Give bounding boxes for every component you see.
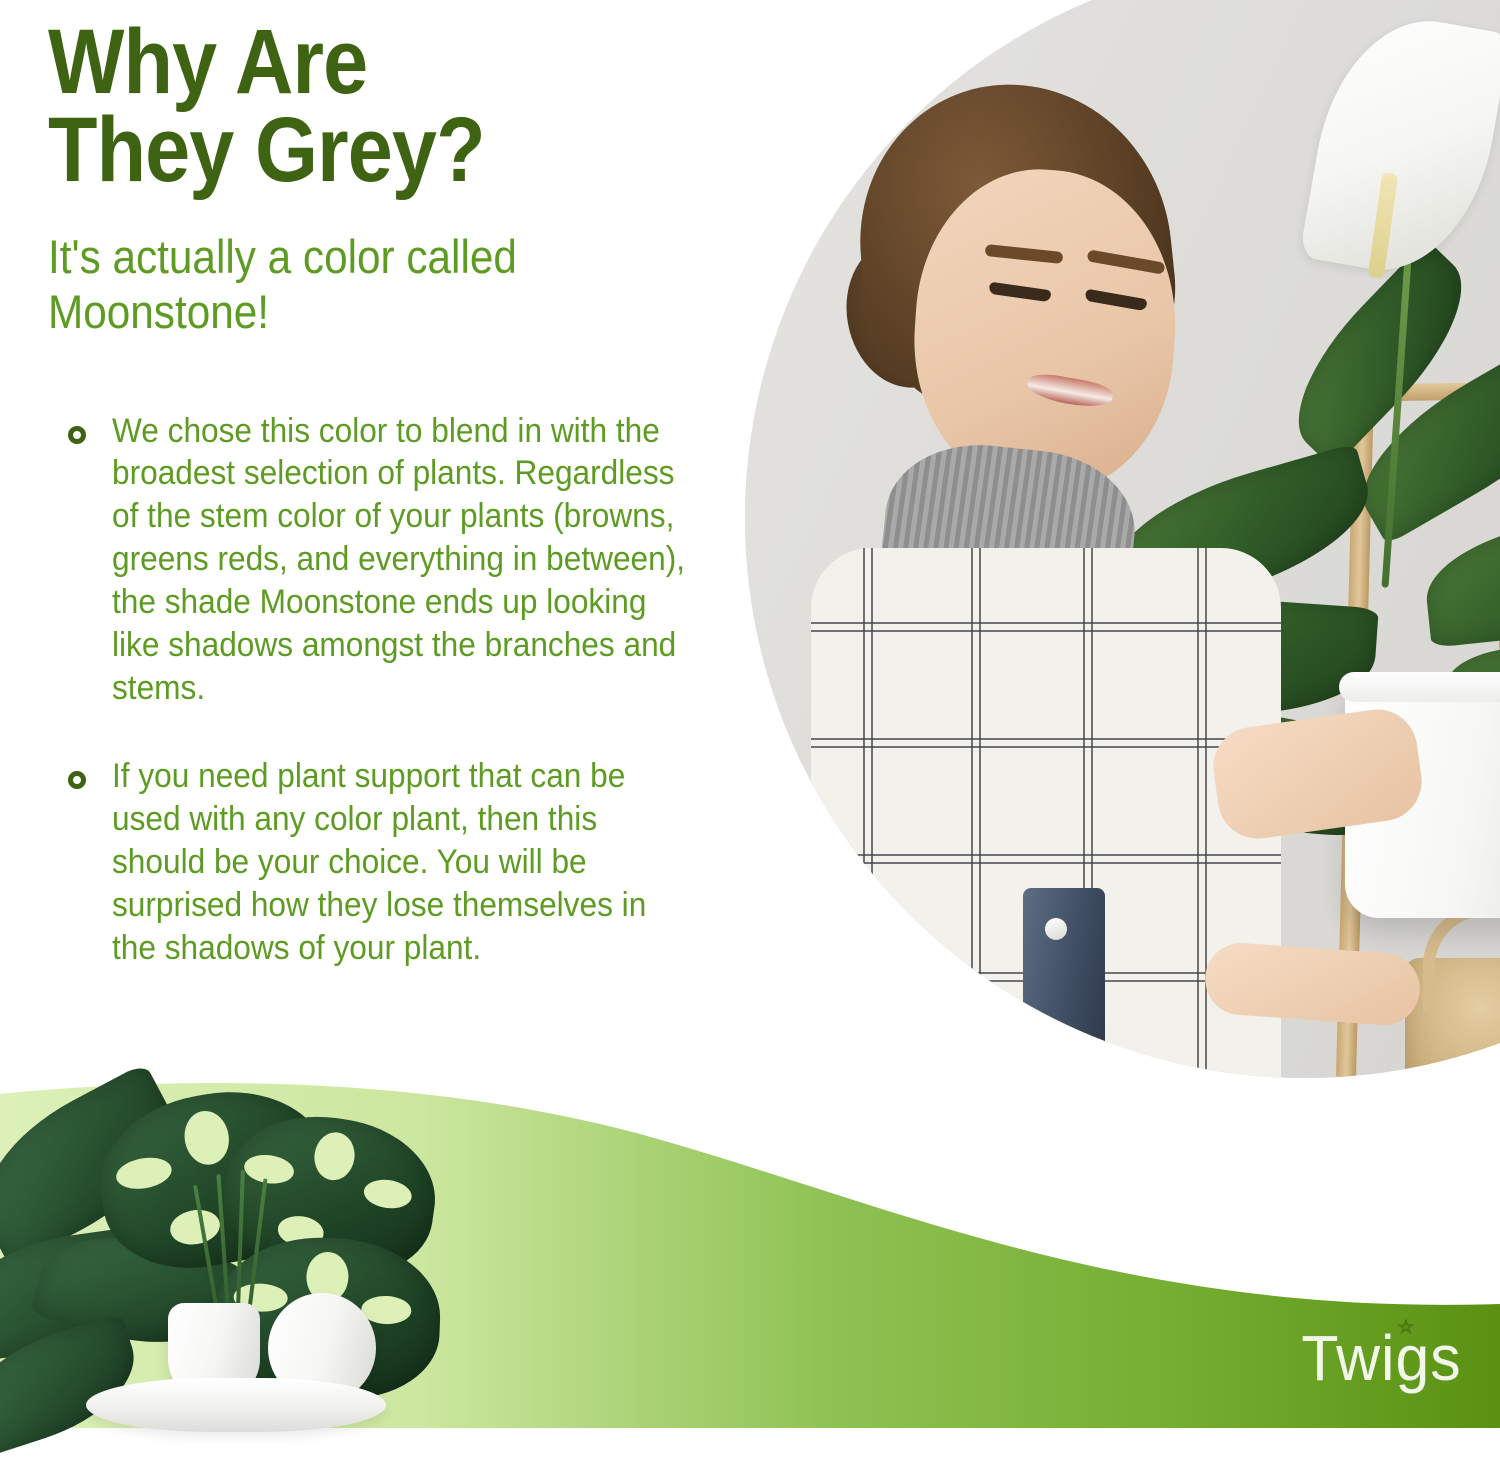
hand-lower [1203, 941, 1422, 1028]
ring-bullet-icon [68, 426, 86, 444]
list-item: If you need plant support that can be us… [48, 755, 738, 969]
page-subtitle: It's actually a color called Moonstone! [48, 229, 669, 340]
ring-bullet-icon [68, 771, 86, 789]
hero-photo-content [745, 0, 1500, 1078]
tropical-leaf-decoration [0, 1088, 640, 1428]
infographic-canvas: Why Are They Grey? It's actually a color… [0, 0, 1500, 1428]
list-item-text: If you need plant support that can be us… [112, 755, 694, 969]
page-title: Why Are They Grey? [48, 18, 655, 195]
jeans [1023, 888, 1105, 1078]
bullet-list: We chose this color to blend in with the… [48, 410, 738, 970]
sprig-leaf-icon [1392, 1316, 1421, 1346]
jeans-button [1045, 918, 1067, 940]
round-white-table [86, 1378, 386, 1432]
brand-logo-text: Twigs [1302, 1322, 1462, 1394]
text-column: Why Are They Grey? It's actually a color… [48, 18, 738, 1015]
woven-basket [1405, 958, 1500, 1078]
hero-photo-circle [745, 0, 1500, 1078]
bottom-wave-band [0, 1068, 1500, 1428]
woman-figure [775, 78, 1395, 1078]
list-item-text: We chose this color to blend in with the… [112, 410, 694, 710]
brand-logo: Twigs [1302, 1326, 1462, 1390]
list-item: We chose this color to blend in with the… [48, 410, 738, 710]
